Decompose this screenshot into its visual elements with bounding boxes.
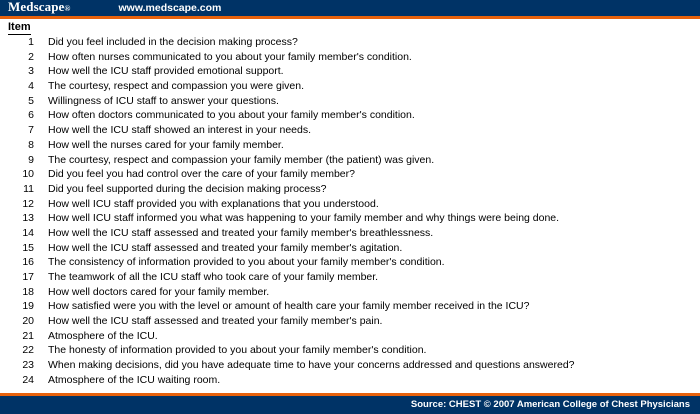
- item-number: 3: [0, 64, 34, 79]
- item-number: 4: [0, 79, 34, 94]
- item-text: The teamwork of all the ICU staff who to…: [48, 270, 378, 285]
- item-number: 5: [0, 94, 34, 109]
- item-number: 21: [0, 329, 34, 344]
- item-text: The courtesy, respect and compassion you…: [48, 153, 434, 168]
- item-number: 17: [0, 270, 34, 285]
- item-text: How often doctors communicated to you ab…: [48, 108, 415, 123]
- item-number: 6: [0, 108, 34, 123]
- item-text: How well the nurses cared for your famil…: [48, 138, 284, 153]
- column-header-label: Item: [8, 21, 31, 35]
- table-row: 23When making decisions, did you have ad…: [0, 358, 700, 373]
- item-number: 15: [0, 241, 34, 256]
- table-row: 3How well the ICU staff provided emotion…: [0, 64, 700, 79]
- item-number: 8: [0, 138, 34, 153]
- table-row: 22The honesty of information provided to…: [0, 343, 700, 358]
- table-row: 19How satisfied were you with the level …: [0, 299, 700, 314]
- item-text: Atmosphere of the ICU waiting room.: [48, 373, 220, 388]
- item-text: Willingness of ICU staff to answer your …: [48, 94, 279, 109]
- table-row: 12How well ICU staff provided you with e…: [0, 197, 700, 212]
- medscape-logo-text: Medscape: [8, 0, 64, 14]
- table-row: 2How often nurses communicated to you ab…: [0, 50, 700, 65]
- table-row: 4The courtesy, respect and compassion yo…: [0, 79, 700, 94]
- table-row: 21Atmosphere of the ICU.: [0, 329, 700, 344]
- header-accent-rule: [0, 16, 700, 19]
- item-number: 13: [0, 211, 34, 226]
- table-row: 13How well ICU staff informed you what w…: [0, 211, 700, 226]
- item-text: Did you feel supported during the decisi…: [48, 182, 326, 197]
- item-text: The consistency of information provided …: [48, 255, 445, 270]
- item-number: 10: [0, 167, 34, 182]
- medscape-logo: Medscape®: [0, 0, 70, 17]
- medscape-url: www.medscape.com: [118, 0, 221, 16]
- registered-trademark-icon: ®: [64, 4, 70, 13]
- source-footer: Source: CHEST © 2007 American College of…: [0, 396, 700, 414]
- item-text: How satisfied were you with the level or…: [48, 299, 529, 314]
- item-list: 1Did you feel included in the decision m…: [0, 35, 700, 388]
- table-row: 17The teamwork of all the ICU staff who …: [0, 270, 700, 285]
- item-text: How well ICU staff provided you with exp…: [48, 197, 379, 212]
- table-row: 18How well doctors cared for your family…: [0, 285, 700, 300]
- item-number: 19: [0, 299, 34, 314]
- item-text: Atmosphere of the ICU.: [48, 329, 158, 344]
- item-number: 14: [0, 226, 34, 241]
- item-text: The courtesy, respect and compassion you…: [48, 79, 304, 94]
- item-text: How well the ICU staff assessed and trea…: [48, 314, 382, 329]
- medscape-article-page: Medscape® www.medscape.com Item 1Did you…: [0, 0, 700, 414]
- column-header-item: Item: [8, 21, 31, 35]
- item-number: 7: [0, 123, 34, 138]
- source-citation: Source: CHEST © 2007 American College of…: [411, 396, 700, 414]
- table-row: 16The consistency of information provide…: [0, 255, 700, 270]
- item-number: 2: [0, 50, 34, 65]
- table-row: 7How well the ICU staff showed an intere…: [0, 123, 700, 138]
- item-number: 20: [0, 314, 34, 329]
- table-row: 1Did you feel included in the decision m…: [0, 35, 700, 50]
- table-row: 14How well the ICU staff assessed and tr…: [0, 226, 700, 241]
- item-number: 12: [0, 197, 34, 212]
- item-number: 18: [0, 285, 34, 300]
- table-row: 20How well the ICU staff assessed and tr…: [0, 314, 700, 329]
- item-number: 11: [0, 182, 34, 197]
- item-number: 22: [0, 343, 34, 358]
- item-text: Did you feel you had control over the ca…: [48, 167, 355, 182]
- table-row: 5Willingness of ICU staff to answer your…: [0, 94, 700, 109]
- item-text: How often nurses communicated to you abo…: [48, 50, 412, 65]
- table-row: 9The courtesy, respect and compassion yo…: [0, 153, 700, 168]
- table-row: 15How well the ICU staff assessed and tr…: [0, 241, 700, 256]
- table-row: 24Atmosphere of the ICU waiting room.: [0, 373, 700, 388]
- table-row: 8How well the nurses cared for your fami…: [0, 138, 700, 153]
- medscape-masthead: Medscape® www.medscape.com: [0, 0, 700, 16]
- item-number: 23: [0, 358, 34, 373]
- table-row: 10Did you feel you had control over the …: [0, 167, 700, 182]
- item-text: How well ICU staff informed you what was…: [48, 211, 559, 226]
- item-number: 16: [0, 255, 34, 270]
- item-text: How well the ICU staff assessed and trea…: [48, 226, 433, 241]
- item-text: How well the ICU staff assessed and trea…: [48, 241, 402, 256]
- item-number: 1: [0, 35, 34, 50]
- item-number: 9: [0, 153, 34, 168]
- item-number: 24: [0, 373, 34, 388]
- item-text: The honesty of information provided to y…: [48, 343, 426, 358]
- item-text: How well doctors cared for your family m…: [48, 285, 269, 300]
- item-text: How well the ICU staff showed an interes…: [48, 123, 311, 138]
- item-text: When making decisions, did you have adeq…: [48, 358, 575, 373]
- table-row: 11Did you feel supported during the deci…: [0, 182, 700, 197]
- item-text: Did you feel included in the decision ma…: [48, 35, 298, 50]
- table-row: 6How often doctors communicated to you a…: [0, 108, 700, 123]
- item-text: How well the ICU staff provided emotiona…: [48, 64, 284, 79]
